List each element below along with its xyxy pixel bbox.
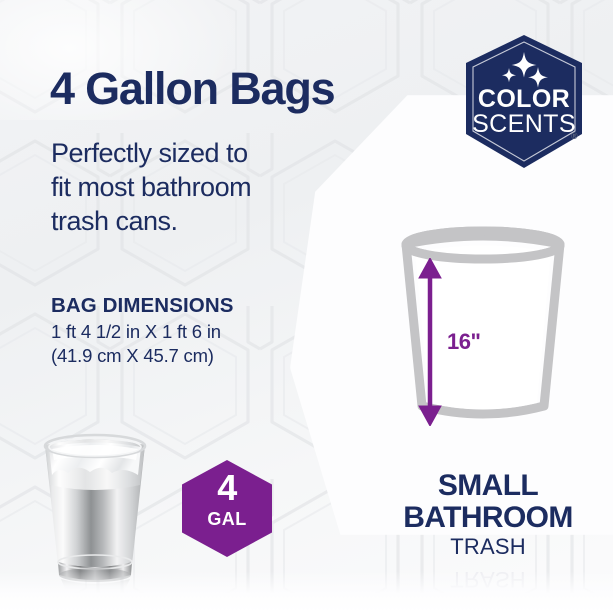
dimensions-metric: (41.9 cm X 45.7 cm): [51, 344, 221, 368]
subtitle-line: fit most bathroom: [51, 170, 251, 204]
bottom-fade-band: [0, 571, 613, 613]
category-caption: SMALL BATHROOM: [373, 470, 603, 533]
caption-line-2: BATHROOM: [373, 502, 603, 534]
metal-trash-can-photo: [28, 423, 162, 591]
logo-line1: COLOR: [478, 85, 570, 113]
dimensions-imperial: 1 ft 4 1/2 in X 1 ft 6 in: [51, 320, 221, 344]
caption-line-1: SMALL: [373, 470, 603, 502]
gallon-number: 4: [179, 470, 275, 506]
page-title: 4 Gallon Bags: [50, 66, 334, 111]
subtitle: Perfectly sized tofit most bathroomtrash…: [51, 136, 251, 238]
gallon-unit-label: GAL: [179, 509, 275, 530]
bag-dimensions-values: 1 ft 4 1/2 in X 1 ft 6 in (41.9 cm X 45.…: [51, 320, 221, 367]
registered-trademark-symbol: ®: [571, 131, 578, 141]
color-scents-logo: COLOR SCENTS: [462, 34, 586, 170]
bag-dimensions-heading: BAG DIMENSIONS: [51, 294, 234, 318]
logo-line2: SCENTS: [472, 110, 576, 138]
subtitle-line: Perfectly sized to: [51, 136, 251, 170]
caption-line-3: TRASH: [373, 534, 603, 560]
subtitle-line: trash cans.: [51, 204, 251, 238]
height-measurement-label: 16": [447, 329, 480, 355]
product-infographic: 4 Gallon Bags Perfectly sized tofit most…: [0, 0, 613, 613]
